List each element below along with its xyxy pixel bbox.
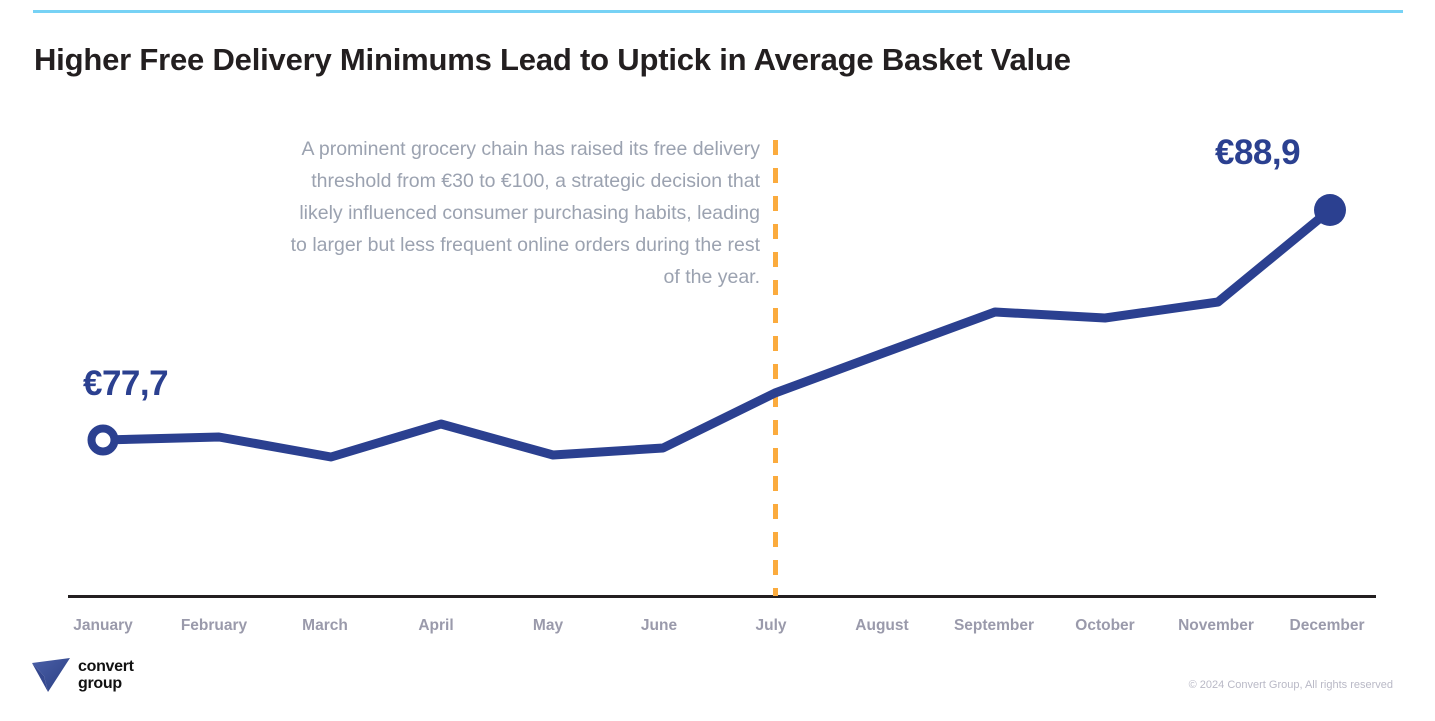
logo-text-line2: group: [78, 675, 134, 692]
annotation-text: A prominent grocery chain has raised its…: [286, 133, 760, 293]
x-label-september: September: [954, 617, 1034, 635]
x-label-october: October: [1075, 617, 1134, 635]
arrow-logo-icon: [30, 656, 74, 694]
convert-group-logo: convert group: [30, 655, 134, 695]
x-label-december: December: [1290, 617, 1365, 635]
start-value-label: €77,7: [83, 364, 168, 404]
x-label-august: August: [855, 617, 908, 635]
x-label-november: November: [1178, 617, 1254, 635]
slide-canvas: Higher Free Delivery Minimums Lead to Up…: [0, 0, 1435, 721]
end-point-marker: [1314, 194, 1346, 226]
x-label-june: June: [641, 617, 677, 635]
end-value-label: €88,9: [1215, 133, 1300, 173]
x-label-march: March: [302, 617, 348, 635]
line-chart: [0, 0, 1435, 721]
x-label-april: April: [418, 617, 453, 635]
logo-text-line1: convert: [78, 658, 134, 675]
x-label-july: July: [755, 617, 786, 635]
copyright-text: © 2024 Convert Group, All rights reserve…: [1189, 679, 1393, 691]
start-point-marker: [92, 429, 115, 452]
x-axis-labels: January February March April May June Ju…: [0, 617, 1435, 641]
x-label-january: January: [73, 617, 132, 635]
x-label-february: February: [181, 617, 247, 635]
logo-wordmark: convert group: [78, 658, 134, 692]
x-label-may: May: [533, 617, 563, 635]
